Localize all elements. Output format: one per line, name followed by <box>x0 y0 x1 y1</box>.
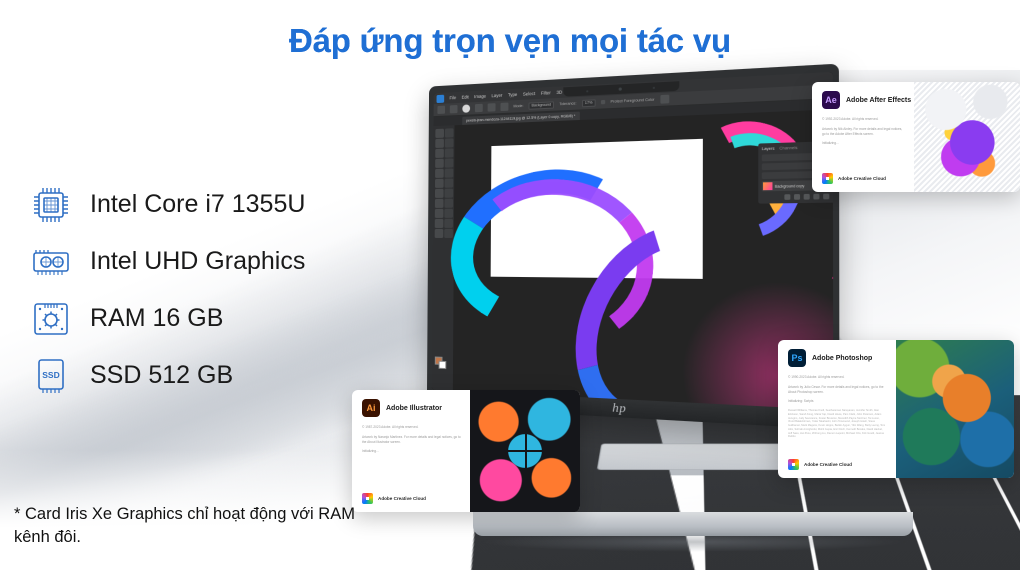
tab-layers[interactable]: Layers <box>762 146 775 151</box>
splash-header: Ae Adobe After Effects <box>822 91 905 109</box>
link-layers-icon <box>784 194 790 200</box>
menu-image[interactable]: Image <box>474 93 486 99</box>
shape-tool-icon[interactable] <box>435 219 444 228</box>
new-layer-icon <box>813 194 819 200</box>
creative-cloud-icon <box>822 173 833 184</box>
creative-cloud-icon <box>788 459 799 470</box>
illustrator-icon: Ai <box>362 399 380 417</box>
splash-copyright: © 1987-2023 Adobe. All rights reserved. <box>362 425 461 430</box>
splash-artwork <box>896 340 1014 478</box>
tab-channels[interactable]: Channels <box>779 146 797 151</box>
tolerance-input[interactable]: 17% <box>582 99 596 107</box>
menu-edit[interactable]: Edit <box>461 94 468 99</box>
splash-info: Ae Adobe After Effects © 1992-2023 Adobe… <box>812 82 914 192</box>
splash-header: Ai Adobe Illustrator <box>362 399 461 417</box>
tolerance-label: Tolerance: <box>559 101 576 106</box>
layer-name: Background copy <box>775 183 805 188</box>
splash-credit: Artwork by Naranjo Martinez. For more de… <box>362 435 461 445</box>
hand-tool-icon[interactable] <box>444 219 453 228</box>
page-title: Đáp ứng trọn vẹn mọi tác vụ <box>0 22 1020 60</box>
splash-credit: Artwork by Julio Cesar. For more details… <box>788 385 887 395</box>
home-icon[interactable] <box>437 106 445 114</box>
ssd-icon: SSD <box>28 353 74 399</box>
splash-info: Ps Adobe Photoshop © 1990-2023 Adobe. Al… <box>778 340 896 478</box>
layer-mask-icon <box>804 194 810 200</box>
spec-row-gpu: Intel UHD Graphics <box>28 233 305 290</box>
splash-copyright: © 1990-2023 Adobe. All rights reserved. <box>788 375 887 380</box>
after-effects-icon: Ae <box>822 91 840 109</box>
type-tool-icon[interactable] <box>435 209 444 218</box>
splash-artwork <box>470 390 580 512</box>
spec-label-gpu: Intel UHD Graphics <box>90 247 305 276</box>
splash-title: Adobe Photoshop <box>812 355 872 362</box>
laptop-shadow <box>478 532 908 552</box>
splash-copy: © 1990-2023 Adobe. All rights reserved. … <box>788 375 887 404</box>
splash-card-illustrator[interactable]: Ai Adobe Illustrator © 1987-2023 Adobe. … <box>352 390 580 512</box>
menu-layer[interactable]: Layer <box>491 93 502 99</box>
svg-text:SSD: SSD <box>42 370 59 380</box>
menu-type[interactable]: Type <box>508 92 518 98</box>
mode-label: Mode: <box>513 104 523 109</box>
layer-style-icon <box>794 194 800 200</box>
photoshop-workspace: Layers Channels Background copy <box>432 109 833 410</box>
layers-panel-footer[interactable] <box>762 194 829 201</box>
history-brush-tool-icon[interactable] <box>435 179 444 188</box>
creative-cloud-label: Adobe Creative Cloud <box>838 176 886 181</box>
ram-chip-icon <box>28 296 74 342</box>
creative-cloud-label: Adobe Creative Cloud <box>804 462 852 467</box>
menu-3d[interactable]: 3D <box>556 89 562 94</box>
path-selection-tool-icon[interactable] <box>444 209 453 218</box>
splash-title: Adobe Illustrator <box>386 405 442 412</box>
spec-list: Intel Core i7 1355U Intel UHD Graphics <box>28 176 305 404</box>
mode-select[interactable]: Background <box>528 101 554 109</box>
spec-row-ssd: SSD SSD 512 GB <box>28 347 305 404</box>
photoshop-window: File Edit Image Layer Type Select Filter… <box>432 72 833 410</box>
zoom-tool-icon[interactable] <box>435 229 444 238</box>
hp-logo: hp <box>612 400 626 417</box>
frame-tool-icon[interactable] <box>445 148 454 157</box>
splash-title: Adobe After Effects <box>846 97 911 104</box>
brush-tool-icon[interactable] <box>435 169 444 178</box>
gradient-tool-icon[interactable] <box>435 189 444 198</box>
crop-tool-icon[interactable] <box>435 149 444 158</box>
blur-tool-icon[interactable] <box>475 104 483 112</box>
screen-display: File Edit Image Layer Type Select Filter… <box>432 72 833 410</box>
smudge-tool-icon[interactable] <box>500 103 508 112</box>
gpu-card-icon <box>28 239 74 285</box>
creative-cloud-label: Adobe Creative Cloud <box>378 496 426 501</box>
document-canvas[interactable] <box>491 139 703 279</box>
footnote-text: * Card Iris Xe Graphics chỉ hoạt động vớ… <box>14 503 364 550</box>
sharpen-tool-icon[interactable] <box>488 103 496 112</box>
menu-filter[interactable]: Filter <box>541 90 551 96</box>
menu-select[interactable]: Select <box>523 91 535 97</box>
dodge-tool-icon[interactable] <box>435 199 444 208</box>
lasso-tool-icon[interactable] <box>435 139 444 148</box>
magic-wand-tool-icon[interactable] <box>445 138 454 147</box>
photoshop-app-icon <box>437 94 445 102</box>
eraser-tool-icon[interactable] <box>445 179 454 188</box>
spec-row-cpu: Intel Core i7 1355U <box>28 176 305 233</box>
protect-foreground-label: Protect Foreground Color <box>611 98 655 104</box>
splash-artwork <box>914 82 1020 192</box>
delete-layer-icon <box>823 194 829 200</box>
more-tools-icon[interactable] <box>444 229 453 238</box>
healing-brush-tool-icon[interactable] <box>445 158 454 167</box>
eyedropper-tool-icon[interactable] <box>435 159 444 168</box>
layer-thumbnail <box>763 182 772 190</box>
spec-label-ram: RAM 16 GB <box>90 304 223 333</box>
splash-status: Initializing... <box>822 141 905 146</box>
splash-copy: © 1992-2023 Adobe. All rights reserved. … <box>822 117 905 146</box>
splash-info: Ai Adobe Illustrator © 1987-2023 Adobe. … <box>352 390 470 512</box>
cpu-icon <box>28 182 74 228</box>
brush-size-icon[interactable] <box>462 104 470 112</box>
splash-credit: Artwork by Nik Ainley. For more details … <box>822 127 905 137</box>
splash-footer: Adobe Creative Cloud <box>822 173 905 184</box>
protect-checkbox[interactable] <box>601 100 605 104</box>
tool-preset-icon[interactable] <box>450 105 458 113</box>
pen-tool-icon[interactable] <box>444 199 453 208</box>
spec-label-ssd: SSD 512 GB <box>90 361 233 390</box>
spec-row-ram: RAM 16 GB <box>28 290 305 347</box>
background-color-swatch <box>439 361 447 369</box>
splash-copyright: © 1992-2023 Adobe. All rights reserved. <box>822 117 905 122</box>
blur-tool-icon[interactable] <box>444 189 453 198</box>
photoshop-toolbar[interactable] <box>432 125 455 390</box>
menu-file[interactable]: File <box>449 95 456 100</box>
splash-status: Initializing: Scripts <box>788 399 887 404</box>
splash-credits-list: Russell Williams, Thomas Knoll, Seethara… <box>788 409 887 439</box>
color-swatches[interactable] <box>435 357 446 369</box>
splash-footer: Adobe Creative Cloud <box>362 493 461 504</box>
splash-card-after-effects[interactable]: Ae Adobe After Effects © 1992-2023 Adobe… <box>812 82 1020 192</box>
splash-card-photoshop[interactable]: Ps Adobe Photoshop © 1990-2023 Adobe. Al… <box>778 340 1014 478</box>
pressure-toggle-icon[interactable] <box>660 95 669 104</box>
marquee-tool-icon[interactable] <box>445 128 454 137</box>
splash-copy: © 1987-2023 Adobe. All rights reserved. … <box>362 425 461 454</box>
photoshop-icon: Ps <box>788 349 806 367</box>
banner-canvas: Đáp ứng trọn vẹn mọi tác vụ Intel Core i… <box>0 0 1020 570</box>
clone-stamp-tool-icon[interactable] <box>445 168 454 177</box>
trackpad[interactable] <box>597 444 791 470</box>
move-tool-icon[interactable] <box>435 129 444 138</box>
spec-label-cpu: Intel Core i7 1355U <box>90 190 305 219</box>
splash-status: Initializing... <box>362 449 461 454</box>
splash-header: Ps Adobe Photoshop <box>788 349 887 367</box>
splash-footer: Adobe Creative Cloud <box>788 459 887 470</box>
